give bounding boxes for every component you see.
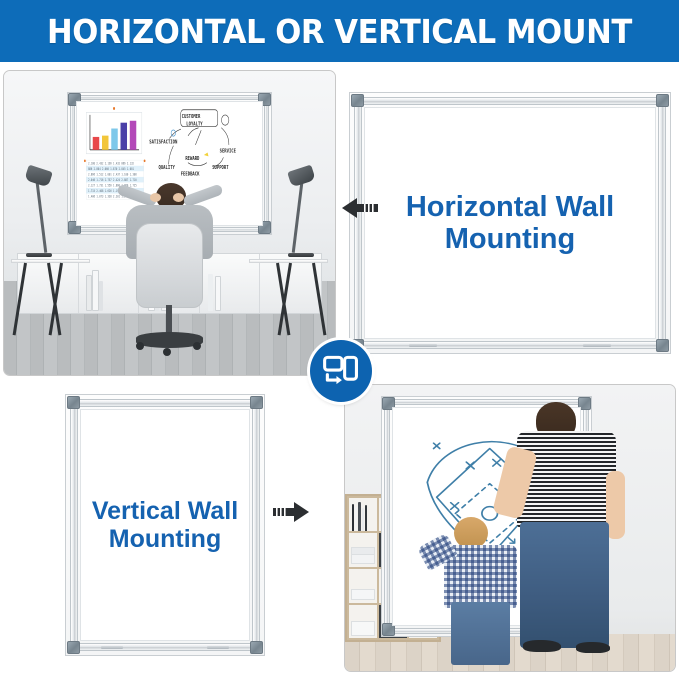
svg-text:2.180 2.432 2.196 1.432 8: 2.180 2.432 2.196 1.432 866 2.132 [88, 161, 134, 166]
paper-stack [351, 547, 375, 555]
svg-text:QUALITY: QUALITY [158, 165, 175, 172]
man-shoe [523, 640, 561, 652]
svg-text:FEEDBACK: FEEDBACK [181, 171, 200, 178]
svg-text:LOYALTY: LOYALTY [186, 121, 203, 128]
corner-bracket [250, 641, 263, 654]
bar-5 [130, 121, 136, 150]
arrow-left-icon [340, 196, 380, 220]
whiteboard-surface: Horizontal Wall Mounting [364, 107, 656, 339]
frame-rail-right [264, 96, 269, 231]
frame-rail-top [71, 95, 268, 100]
book [358, 502, 361, 531]
book [362, 508, 364, 532]
chair-caster [163, 348, 171, 356]
child-head [454, 517, 488, 549]
horizontal-label-line2: Mounting [445, 223, 575, 255]
paper-stack [351, 621, 375, 636]
shelf-cube [349, 533, 377, 567]
child-jeans [451, 602, 510, 665]
svg-text:2.866 1.512 1.001 2.437 1.: 2.866 1.512 1.001 2.437 1.100 1.308 [88, 172, 137, 177]
svg-text:CUSTOMER: CUSTOMER [182, 114, 201, 121]
horizontal-label-line1: Horizontal Wall [406, 191, 614, 223]
frame-rail-top [356, 97, 664, 105]
corner-bracket [656, 339, 669, 352]
corner-bracket [351, 94, 364, 107]
svg-text:2.046 1.716 2.757 2.424 2.: 2.046 1.716 2.757 2.424 2.887 1.710 [88, 178, 137, 183]
bar-4 [120, 123, 126, 150]
book [86, 275, 92, 311]
shelf-cube [349, 569, 377, 603]
bar-1 [93, 137, 99, 150]
paper-stack [351, 554, 375, 563]
rotate-orientation-icon [310, 340, 372, 402]
book [208, 274, 213, 312]
vertical-whiteboard-illustration: Vertical Wall Mounting [65, 394, 265, 656]
frame-rail-bottom [72, 643, 258, 651]
svg-text:REWARD: REWARD [185, 156, 199, 163]
office-chair-back [136, 223, 202, 308]
chair-caster [136, 342, 144, 350]
trestle-table-left [11, 259, 90, 263]
corner-bracket [67, 641, 80, 654]
lamp-base [26, 253, 52, 257]
family-photo-panel [344, 384, 676, 672]
corner-bracket [67, 396, 80, 409]
frame-rail-left [354, 99, 362, 347]
man-striped-shirt [517, 431, 616, 528]
header-banner: HORIZONTAL OR VERTICAL MOUNT [0, 0, 679, 62]
horizontal-whiteboard-illustration: Horizontal Wall Mounting [349, 92, 671, 354]
corner-bracket [656, 94, 669, 107]
frame-rail-right [658, 99, 666, 347]
person-hand-left [150, 193, 161, 202]
page-title: HORIZONTAL OR VERTICAL MOUNT [47, 12, 632, 51]
office-scene: 2.180 2.432 2.196 1.432 866 2.132 886 2.… [4, 71, 335, 375]
corner-bracket [250, 396, 263, 409]
man-jeans [520, 522, 609, 648]
mindmap-labels: CUSTOMER LOYALTY SATISFACTION SERVICE QU… [149, 114, 236, 178]
horizontal-label-panel: Horizontal Wall Mounting [344, 70, 676, 376]
book [215, 276, 221, 311]
marker-tray [409, 344, 437, 347]
svg-text:SATISFACTION: SATISFACTION [149, 139, 177, 146]
lamp-base [288, 253, 314, 257]
vertical-label-line1: Vertical Wall [92, 497, 238, 525]
office-photo-panel: 2.180 2.432 2.196 1.432 866 2.132 886 2.… [3, 70, 336, 376]
frame-rail-bottom [356, 341, 664, 349]
whiteboard-surface: Vertical Wall Mounting [80, 409, 250, 641]
frame-rail-top [72, 399, 258, 407]
shelf-cube [349, 498, 377, 532]
svg-text:886 2.804 2.060 1.870 2.84: 886 2.804 2.060 1.870 2.845 1.001 [88, 167, 134, 172]
chair-caster [193, 342, 201, 350]
paper-stack [351, 589, 375, 600]
vertical-label-line2: Mounting [109, 525, 221, 553]
bar-2 [102, 136, 108, 150]
book [99, 281, 103, 312]
marker-tray [207, 646, 229, 649]
svg-text:SERVICE: SERVICE [219, 148, 236, 155]
frame-rail-left [384, 401, 390, 631]
vertical-label-panel: Vertical Wall Mounting [3, 384, 336, 672]
marker-tray [101, 646, 123, 649]
frame-rail-left [70, 96, 75, 231]
arrow-right-icon [271, 500, 311, 524]
svg-text:SUPPORT: SUPPORT [212, 165, 229, 172]
frame-rail-left [70, 401, 78, 649]
bar-3 [111, 129, 117, 150]
chair-stem [166, 305, 172, 335]
book [92, 270, 99, 311]
man-shoe [576, 642, 610, 653]
book [365, 505, 368, 531]
horizontal-mount-label: Horizontal Wall Mounting [406, 191, 614, 256]
shelf-cube [349, 605, 377, 639]
vertical-mount-label: Vertical Wall Mounting [92, 497, 238, 553]
book [355, 507, 357, 531]
family-scene [345, 385, 675, 671]
frame-rail-right [252, 401, 260, 649]
person-hand-right [173, 193, 184, 202]
marker-tray [583, 344, 611, 347]
book [352, 504, 355, 531]
